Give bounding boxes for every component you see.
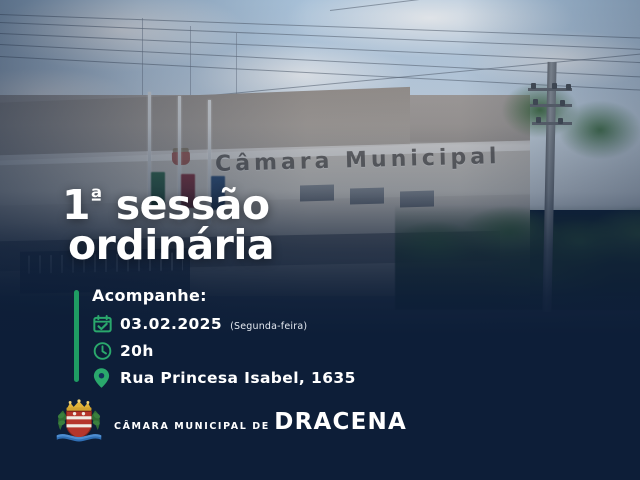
logo-line-top: CÂMARA MUNICIPAL DE — [114, 421, 270, 432]
session-ordinal: ª — [90, 185, 102, 210]
headline-line-1: 1ª sessão — [62, 186, 274, 226]
event-details: Acompanhe: 03.02.2025 ( — [74, 286, 356, 392]
logo-text-block: CÂMARA MUNICIPAL DE DRACENA — [114, 411, 407, 434]
event-poster: Câmara Municipal 1ª sessão ordinária — [0, 0, 640, 480]
detail-date-text: 03.02.2025 (Segunda-feira) — [120, 315, 307, 333]
detail-location-text: Rua Princesa Isabel, 1635 — [120, 369, 356, 387]
poster-content: 1ª sessão ordinária Acompanhe: — [0, 0, 640, 480]
dracena-coat-of-arms-icon — [54, 398, 104, 446]
event-time: 20h — [120, 342, 154, 360]
event-address: Rua Princesa Isabel, 1635 — [120, 369, 356, 387]
organization-logo: CÂMARA MUNICIPAL DE DRACENA — [54, 398, 407, 446]
detail-time-text: 20h — [120, 342, 154, 360]
detail-row-date: 03.02.2025 (Segunda-feira) — [92, 311, 356, 336]
event-weekday: (Segunda-feira) — [230, 321, 307, 332]
logo-line-main: DRACENA — [274, 409, 407, 435]
clock-icon — [92, 341, 120, 361]
detail-row-location: Rua Princesa Isabel, 1635 — [92, 365, 356, 390]
calendar-check-icon — [92, 314, 120, 334]
details-heading: Acompanhe: — [92, 286, 356, 305]
location-pin-icon — [92, 367, 120, 389]
headline-line-2: ordinária — [68, 226, 274, 266]
green-accent-bar — [74, 290, 79, 382]
detail-row-time: 20h — [92, 338, 356, 363]
page-title: 1ª sessão ordinária — [62, 186, 274, 266]
event-date: 03.02.2025 — [120, 315, 222, 333]
